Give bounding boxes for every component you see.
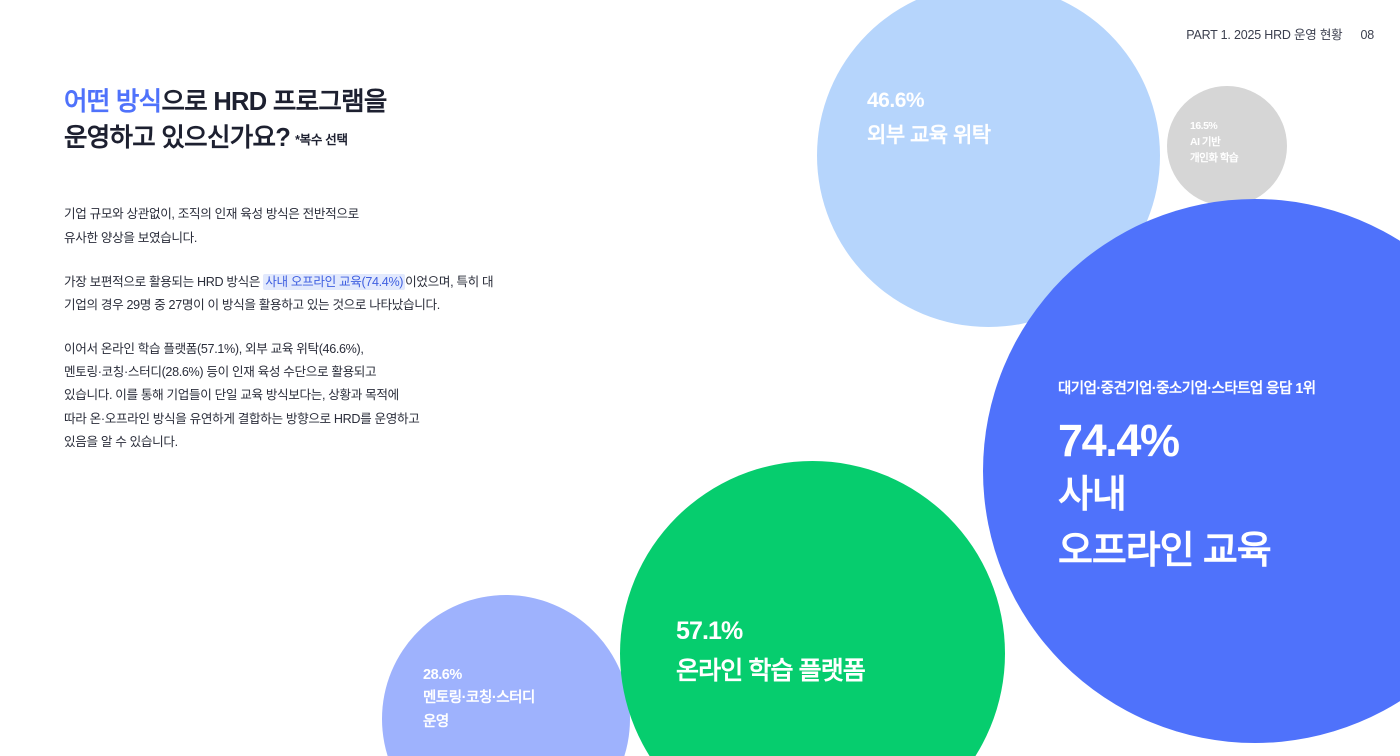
bubble-online-name: 온라인 학습 플랫폼 — [676, 651, 865, 691]
highlight-stat: 사내 오프라인 교육(74.4%) — [263, 274, 405, 290]
bubble-mentoring-percent: 28.6% — [423, 664, 535, 687]
paragraph-2: 가장 보편적으로 활용되는 HRD 방식은 사내 오프라인 교육(74.4%)이… — [64, 271, 494, 317]
bubble-label-ai: 16.5% AI 기반 개인화 학습 — [1190, 119, 1238, 167]
bubble-offline-eyebrow: 대기업·중견기업·중소기업·스타트업 응답 1위 — [1058, 381, 1316, 398]
page-title: 어떤 방식으로 HRD 프로그램을 운영하고 있으신가요?*복수 선택 — [64, 84, 494, 156]
bubble-online — [620, 461, 1005, 756]
bubble-label-online: 57.1% 온라인 학습 플랫폼 — [676, 611, 865, 691]
bubble-offline-name-2: 오프라인 교육 — [1058, 526, 1316, 578]
page-number: 08 — [1360, 28, 1374, 42]
bubble-label-mentoring: 28.6% 멘토링·코칭·스터디 운영 — [423, 664, 535, 734]
bubble-ai-percent: 16.5% — [1190, 119, 1238, 135]
bubble-offline-percent: 74.4% — [1058, 417, 1316, 466]
bubble-label-outsourcing: 46.6% 외부 교육 위탁 — [867, 84, 991, 153]
bubble-online-percent: 57.1% — [676, 611, 865, 651]
breadcrumb: PART 1. 2025 HRD 운영 현황 — [1186, 24, 1342, 43]
title-rest-line1: 으로 HRD 프로그램을 — [161, 88, 386, 116]
body-copy: 기업 규모와 상관없이, 조직의 인재 육성 방식은 전반적으로유사한 양상을 … — [64, 203, 494, 454]
bubble-offline-name-1: 사내 — [1058, 470, 1316, 522]
bubble-ai-name-1: AI 기반 — [1190, 135, 1238, 151]
bubble-ai-name-2: 개인화 학습 — [1190, 151, 1238, 167]
title-accent: 어떤 방식 — [64, 88, 161, 116]
title-note: *복수 선택 — [290, 133, 348, 147]
bubble-mentoring-name-1: 멘토링·코칭·스터디 — [423, 687, 535, 710]
bubble-mentoring-name-2: 운영 — [423, 711, 535, 734]
bubble-outsourcing-percent: 46.6% — [867, 84, 991, 119]
paragraph-2-before: 가장 보편적으로 활용되는 HRD 방식은 — [64, 275, 263, 289]
paragraph-1: 기업 규모와 상관없이, 조직의 인재 육성 방식은 전반적으로유사한 양상을 … — [64, 203, 494, 249]
title-line2: 운영하고 있으신가요? — [64, 124, 290, 152]
slide-root: PART 1. 2025 HRD 운영 현황 08 어떤 방식으로 HRD 프로… — [0, 0, 1400, 756]
content-column: 어떤 방식으로 HRD 프로그램을 운영하고 있으신가요?*복수 선택 기업 규… — [64, 84, 494, 454]
paragraph-3: 이어서 온라인 학습 플랫폼(57.1%), 외부 교육 위탁(46.6%),멘… — [64, 338, 494, 454]
slide-header: PART 1. 2025 HRD 운영 현황 08 — [1186, 24, 1374, 43]
bubble-label-offline: 대기업·중견기업·중소기업·스타트업 응답 1위 74.4% 사내 오프라인 교… — [1058, 381, 1316, 577]
bubble-outsourcing-name: 외부 교육 위탁 — [867, 119, 991, 154]
